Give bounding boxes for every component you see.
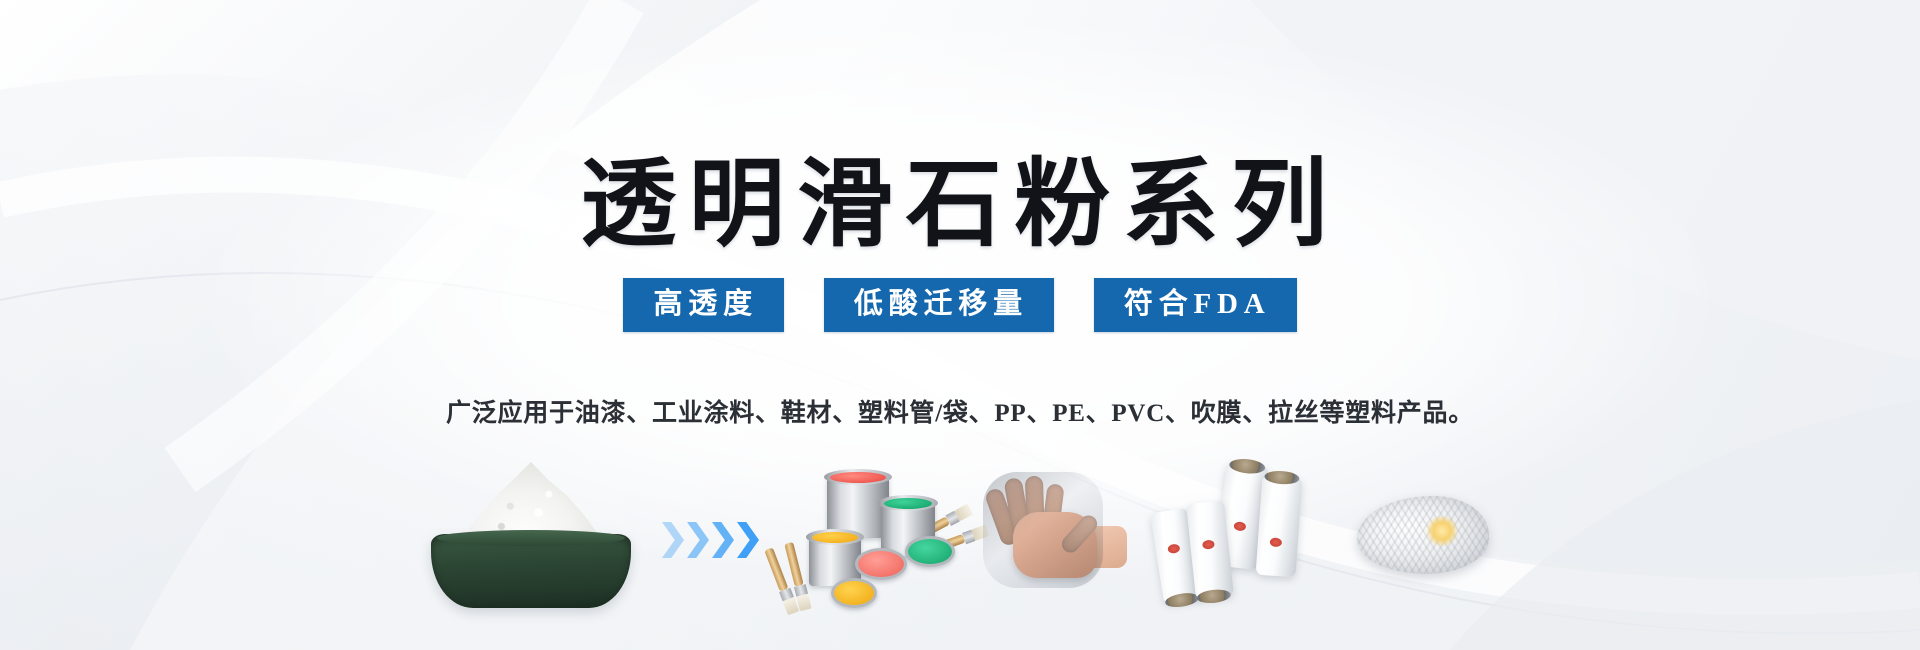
page-title: 透明滑石粉系列 xyxy=(0,152,1920,258)
green-bowl xyxy=(431,534,631,608)
process-arrows-icon xyxy=(662,522,759,558)
chevron-right-icon xyxy=(712,522,734,558)
badge-high-transparency[interactable]: 高透度 xyxy=(623,278,783,332)
shoe-sole-image xyxy=(1347,460,1497,610)
glove-film-overlay xyxy=(983,472,1103,588)
chevron-right-icon xyxy=(662,522,684,558)
paint-cans-image xyxy=(779,450,951,610)
paint-lid-yellow xyxy=(831,578,877,608)
chevron-right-icon xyxy=(687,522,709,558)
shoe-sole xyxy=(1357,496,1489,574)
paint-lid-green xyxy=(905,536,955,567)
application-description: 广泛应用于油漆、工业涂料、鞋材、塑料管/袋、PP、PE、PVC、吹膜、拉丝等塑料… xyxy=(0,393,1920,429)
badge-low-acid-migration[interactable]: 低酸迁移量 xyxy=(824,278,1054,332)
chevron-right-icon xyxy=(737,522,759,558)
badge-fda-compliant[interactable]: 符合FDA xyxy=(1094,278,1297,332)
talc-powder-bowl-image xyxy=(423,460,638,610)
shoe-sole-highlight xyxy=(1425,516,1459,546)
plastic-film-rolls-image xyxy=(1151,460,1321,610)
feature-badge-list: 高透度 低酸迁移量 符合FDA xyxy=(0,278,1920,332)
film-roll xyxy=(1256,475,1303,578)
paint-lid-pink xyxy=(855,548,907,580)
plastic-glove-hand-image xyxy=(975,460,1125,610)
product-showcase-row xyxy=(0,430,1920,610)
product-banner: 透明滑石粉系列 高透度 低酸迁移量 符合FDA 广泛应用于油漆、工业涂料、鞋材、… xyxy=(0,0,1920,650)
